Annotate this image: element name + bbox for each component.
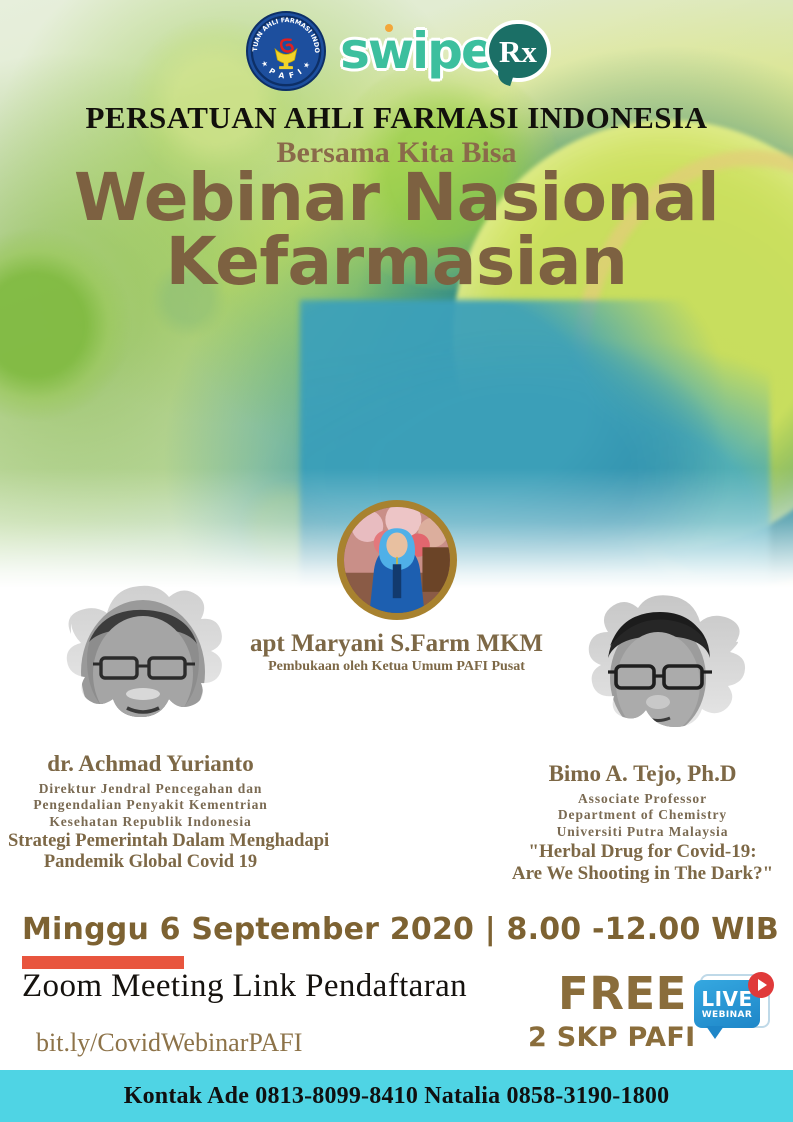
- speaker-right: Bimo A. Tejo, Ph.D Associate Professor D…: [500, 592, 785, 884]
- rx-speech-bubble-icon: Rx: [489, 24, 547, 78]
- contact-text: Kontak Ade 0813-8099-8410 Natalia 0858-3…: [124, 1083, 670, 1110]
- event-datetime: Minggu 6 September 2020 | 8.00 -12.00 WI…: [22, 912, 779, 947]
- affiliation-line: Universiti Putra Malaysia: [500, 824, 785, 840]
- affiliation-line: Direktur Jendral Pencegahan dan: [8, 781, 293, 797]
- organization-name: PERSATUAN AHLI FARMASI INDONESIA: [0, 100, 793, 136]
- speaker-left: dr. Achmad Yurianto Direktur Jendral Pen…: [8, 582, 293, 873]
- affiliation-line: Pengendalian Penyakit Kementrian: [8, 797, 293, 813]
- bowl-of-hygeia-icon: [269, 37, 303, 71]
- speaker-portrait-image: [550, 592, 765, 757]
- badge-live-label: LIVE: [701, 989, 752, 1009]
- avatar: [337, 500, 457, 620]
- affiliation-line: Kesehatan Republik Indonesia: [8, 814, 293, 830]
- credits-badge: 2 SKP PAFI: [528, 1022, 695, 1053]
- pafi-logo: PERSATUAN AHLI FARMASI INDONESIA ★ P A F…: [246, 11, 326, 91]
- play-icon: [748, 972, 774, 998]
- swiperx-logo: swipe Rx: [340, 24, 547, 78]
- speaker-right-topic: "Herbal Drug for Covid-19: Are We Shooti…: [500, 841, 785, 884]
- speaker-left-name: dr. Achmad Yurianto: [8, 751, 293, 777]
- contact-footer: Kontak Ade 0813-8099-8410 Natalia 0858-3…: [0, 1070, 793, 1122]
- logo-row: PERSATUAN AHLI FARMASI INDONESIA ★ P A F…: [0, 8, 793, 94]
- speaker-right-affiliation: Associate Professor Department of Chemis…: [500, 791, 785, 840]
- topic-line: "Herbal Drug for Covid-19:: [500, 841, 785, 862]
- registration-label: Zoom Meeting Link Pendaftaran: [22, 968, 467, 1005]
- topic-line: Are We Shooting in The Dark?": [500, 863, 785, 884]
- affiliation-line: Department of Chemistry: [500, 807, 785, 823]
- swipe-wordmark: swipe: [340, 26, 493, 76]
- badge-webinar-label: WEBINAR: [702, 1011, 753, 1020]
- affiliation-line: Associate Professor: [500, 791, 785, 807]
- page-title: Webinar Nasional Kefarmasian: [0, 166, 793, 294]
- speaker-right-name: Bimo A. Tejo, Ph.D: [500, 761, 785, 787]
- speaker-left-affiliation: Direktur Jendral Pencegahan dan Pengenda…: [8, 781, 293, 830]
- speaker-left-portrait: [43, 582, 258, 747]
- price-free: FREE: [558, 967, 687, 1020]
- speaker-left-topic: Strategi Pemerintah Dalam Menghadapi Pan…: [8, 831, 293, 872]
- speaker-portrait-image: [43, 582, 258, 747]
- rx-wordmark: Rx: [499, 36, 537, 67]
- live-webinar-badge: LIVE WEBINAR: [694, 972, 774, 1044]
- topic-line: Strategi Pemerintah Dalam Menghadapi: [8, 831, 293, 852]
- title-line-2: Kefarmasian: [0, 230, 793, 294]
- webinar-poster: PERSATUAN AHLI FARMASI INDONESIA ★ P A F…: [0, 0, 793, 1122]
- swipe-dot-icon: [385, 24, 393, 32]
- registration-link[interactable]: bit.ly/CovidWebinarPAFI: [36, 1028, 302, 1058]
- topic-line: Pandemik Global Covid 19: [8, 852, 293, 873]
- speaker-portrait-image: [344, 507, 450, 613]
- speaker-right-portrait: [550, 592, 765, 757]
